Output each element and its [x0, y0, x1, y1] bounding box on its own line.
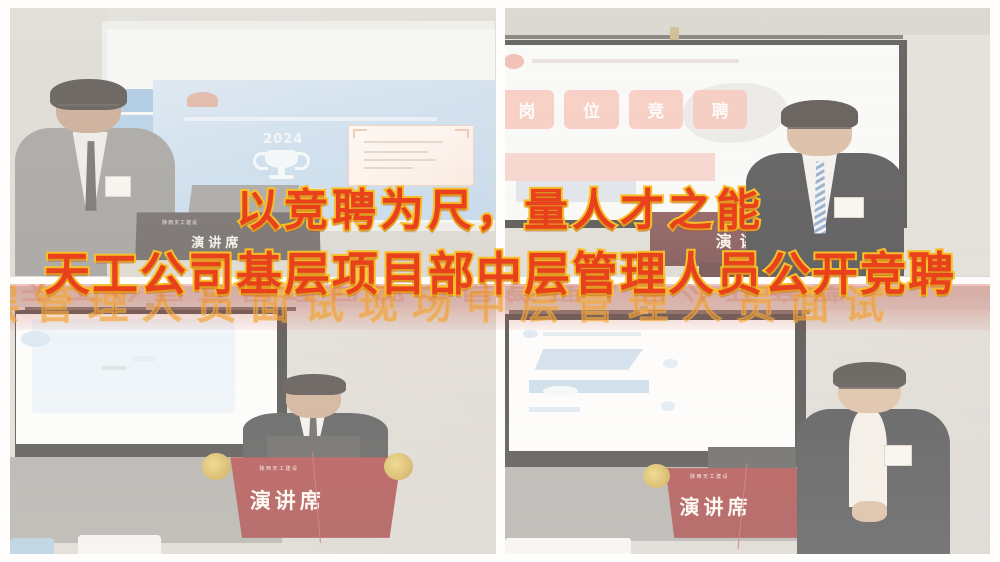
- slide-tile: 位: [564, 90, 619, 128]
- screen-frame: [505, 314, 806, 467]
- name-badge: [834, 197, 863, 218]
- slide-tile: 岗: [505, 90, 555, 128]
- scroll-end-right-icon: [384, 453, 413, 480]
- podium-label: 演讲席: [191, 232, 242, 251]
- poster-canvas: 2024: [0, 0, 1000, 562]
- screen-surface: [16, 314, 277, 444]
- slide-shape-polygon: [535, 349, 644, 370]
- slide-nav-bar: [543, 332, 640, 336]
- glasses-icon: [788, 127, 851, 138]
- slide-nav-bar: [532, 59, 740, 63]
- podium-org-label: 陕西天工建设: [690, 473, 729, 480]
- slide-glow: [32, 319, 236, 413]
- slide-shape-3: [102, 366, 125, 370]
- screen-surface: [509, 320, 795, 452]
- name-badge: [884, 445, 912, 466]
- slide-logo-icon: [505, 54, 524, 70]
- ceiling: [505, 286, 991, 310]
- wall-right: [903, 35, 990, 277]
- slide-shape-bar-2: [529, 407, 580, 412]
- speaker-figure: [757, 105, 893, 277]
- podium-org-label: 陕西天工建设: [260, 465, 299, 472]
- glasses-icon: [839, 387, 899, 397]
- scroll-end-left-icon: [202, 453, 231, 480]
- ceiling: [10, 286, 496, 307]
- slide-bullet-icon: [523, 330, 537, 338]
- trophy-icon: [259, 150, 303, 181]
- scroll-end-left-icon: [643, 464, 670, 488]
- slide-shape-cloud: [543, 386, 577, 397]
- slide-footer-block: [516, 181, 636, 202]
- ceiling: [505, 8, 991, 38]
- slide-logo-icon: [187, 92, 218, 107]
- panel-top-right[interactable]: 岗 位 竞 聘 演讲席: [505, 8, 991, 277]
- slide-tiles: 岗 位 竞 聘: [505, 90, 748, 128]
- name-badge: [105, 176, 131, 197]
- slide-year-label: 2024: [246, 131, 321, 149]
- glasses-icon: [58, 104, 119, 114]
- slide-subtitle-bar: [184, 117, 437, 121]
- slide-tile: 竞: [629, 90, 684, 128]
- podium-label: 演讲席: [250, 485, 325, 515]
- slide-shape-1: [21, 331, 50, 347]
- chair-secondary: [10, 538, 54, 554]
- table: [505, 538, 631, 554]
- slide-shape-2: [131, 356, 157, 362]
- laptop: [708, 447, 795, 471]
- screen-rail: [505, 35, 908, 39]
- panel-top-left[interactable]: 2024: [10, 8, 496, 277]
- slide-red-band: [505, 153, 716, 181]
- panel-bottom-left[interactable]: 陕西天工建设 演讲席: [10, 286, 496, 555]
- podium: 陕西天工建设 演讲席: [135, 212, 321, 260]
- chair: [78, 535, 161, 554]
- panel-bottom-right[interactable]: 陕西天工建设 演讲席: [505, 286, 991, 555]
- slide-bullet-2-icon: [663, 359, 677, 368]
- podium-org-label: 陕西天工建设: [162, 219, 198, 226]
- hands: [852, 501, 887, 522]
- certificate-image: [348, 125, 473, 186]
- slide-tile: 聘: [693, 90, 748, 128]
- speaker-figure: [806, 366, 942, 554]
- photo-grid: 2024: [10, 8, 990, 554]
- slide-bullet-3-icon: [661, 401, 675, 410]
